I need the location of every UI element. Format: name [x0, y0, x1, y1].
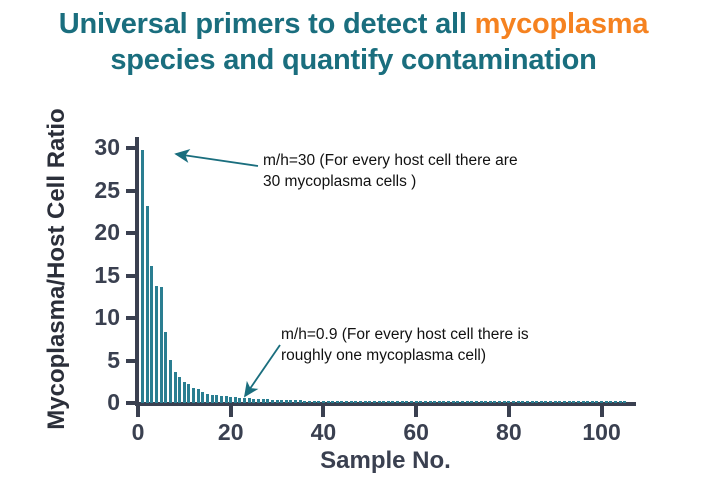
- bar: [591, 401, 594, 403]
- x-axis-tick-label: 80: [469, 419, 549, 445]
- bar: [521, 401, 524, 403]
- bar: [373, 401, 376, 403]
- x-axis-tick: [321, 406, 325, 417]
- bar: [614, 401, 617, 403]
- x-axis-tick-label: 100: [562, 419, 642, 445]
- bar: [489, 401, 492, 403]
- bar: [266, 399, 269, 403]
- bar: [299, 400, 302, 403]
- bar: [600, 401, 603, 403]
- bar: [322, 401, 325, 403]
- bar: [285, 400, 288, 403]
- page-title: Universal primers to detect all mycoplas…: [0, 6, 707, 78]
- bar: [313, 401, 316, 403]
- bar: [192, 388, 195, 403]
- y-axis-tick: [126, 274, 136, 278]
- bar: [563, 401, 566, 403]
- x-axis-tick: [414, 406, 418, 417]
- page-title-line1-prefix: Universal primers to detect all: [59, 8, 475, 40]
- y-axis-tick-label: 15: [76, 264, 120, 287]
- bar: [276, 400, 279, 403]
- bar: [238, 398, 241, 404]
- bar-chart-figure: 051015202530 020406080100 Mycoplasma/Hos…: [0, 92, 707, 484]
- bar: [517, 401, 520, 403]
- bar: [442, 401, 445, 403]
- bar: [503, 401, 506, 403]
- bar: [391, 401, 394, 403]
- bar: [609, 401, 612, 403]
- bar: [141, 150, 144, 403]
- bar: [317, 401, 320, 403]
- bar: [619, 401, 622, 403]
- bar: [507, 401, 510, 403]
- bar: [206, 394, 209, 403]
- bar: [234, 397, 237, 403]
- bar: [303, 401, 306, 403]
- bar: [558, 401, 561, 403]
- bar: [498, 401, 501, 403]
- bar: [354, 401, 357, 403]
- bar: [378, 401, 381, 403]
- bar: [248, 398, 251, 403]
- bar: [187, 384, 190, 403]
- bar: [586, 401, 589, 403]
- bar: [484, 401, 487, 403]
- bar: [466, 401, 469, 403]
- bar: [178, 377, 181, 403]
- bar: [582, 401, 585, 403]
- bar: [201, 392, 204, 403]
- bar: [331, 401, 334, 403]
- bar: [215, 395, 218, 403]
- bar: [480, 401, 483, 403]
- bar: [568, 401, 571, 403]
- bar: [595, 401, 598, 403]
- bar: [327, 401, 330, 403]
- bar: [577, 401, 580, 403]
- bar: [382, 401, 385, 403]
- bar: [155, 286, 158, 403]
- bar: [531, 401, 534, 403]
- bar: [429, 401, 432, 403]
- bar: [359, 401, 362, 403]
- bar: [169, 360, 172, 403]
- bar: [387, 401, 390, 403]
- y-axis-tick-label: 10: [76, 306, 120, 329]
- y-axis-tick: [126, 231, 136, 235]
- bar: [424, 401, 427, 403]
- bar: [554, 401, 557, 403]
- bar: [336, 401, 339, 403]
- x-axis-tick: [136, 406, 140, 417]
- bar: [605, 401, 608, 403]
- bar: [410, 401, 413, 403]
- bar: [350, 401, 353, 403]
- bar: [535, 401, 538, 403]
- bar: [164, 332, 167, 403]
- bar: [160, 287, 163, 403]
- x-axis-tick-label: 0: [98, 419, 178, 445]
- bar: [544, 401, 547, 403]
- y-axis-title: Mycoplasma/Host Cell Ratio: [43, 104, 71, 434]
- bar: [470, 401, 473, 403]
- bar: [220, 396, 223, 403]
- bar: [419, 401, 422, 403]
- bar: [526, 401, 529, 403]
- bar: [405, 401, 408, 403]
- bar: [401, 401, 404, 403]
- bar: [452, 401, 455, 403]
- bar: [294, 400, 297, 403]
- y-axis-tick: [126, 401, 136, 405]
- annotation-high-ratio: m/h=30 (For every host cell there are 30…: [263, 150, 633, 192]
- y-axis-tick-label: 30: [76, 136, 120, 159]
- y-axis-tick: [126, 189, 136, 193]
- bar: [257, 399, 260, 403]
- bar: [433, 401, 436, 403]
- bar: [174, 372, 177, 403]
- bar: [262, 399, 265, 403]
- y-axis-tick-label: 0: [76, 391, 120, 414]
- bar: [368, 401, 371, 403]
- bar: [340, 401, 343, 403]
- bar: [512, 401, 515, 403]
- bar: [345, 401, 348, 403]
- bar: [146, 206, 149, 403]
- bar: [243, 398, 246, 403]
- bar: [225, 396, 228, 403]
- annotation-low-ratio: m/h=0.9 (For every host cell there is ro…: [281, 324, 651, 366]
- x-axis-tick-label: 40: [283, 419, 363, 445]
- x-axis-title: Sample No.: [135, 447, 636, 475]
- bar: [475, 401, 478, 403]
- y-axis-tick-label: 5: [76, 349, 120, 372]
- bar: [271, 400, 274, 403]
- bar: [229, 397, 232, 403]
- bar: [211, 395, 214, 403]
- bar: [280, 400, 283, 403]
- y-axis-tick: [126, 316, 136, 320]
- y-axis-tick: [126, 146, 136, 150]
- bar: [623, 401, 626, 403]
- bar: [364, 401, 367, 403]
- bar: [572, 401, 575, 403]
- bar: [438, 401, 441, 403]
- x-axis-tick: [229, 406, 233, 417]
- bar: [396, 401, 399, 403]
- bar: [183, 382, 186, 403]
- bar: [308, 401, 311, 403]
- x-axis-tick: [507, 406, 511, 417]
- x-axis-tick-label: 20: [191, 419, 271, 445]
- x-axis-tick-label: 60: [376, 419, 456, 445]
- page-title-highlight: mycoplasma: [475, 8, 649, 40]
- bar: [252, 399, 255, 403]
- bar: [549, 401, 552, 403]
- y-axis-tick-label: 20: [76, 221, 120, 244]
- bar: [461, 401, 464, 403]
- bar: [150, 266, 153, 403]
- bar: [540, 401, 543, 403]
- x-axis-tick: [600, 406, 604, 417]
- bar: [415, 401, 418, 403]
- bar: [289, 400, 292, 403]
- bar: [493, 401, 496, 403]
- y-axis-tick-label: 25: [76, 179, 120, 202]
- bar: [197, 389, 200, 403]
- page-title-line2: species and quantify contamination: [110, 44, 596, 76]
- bar: [456, 401, 459, 403]
- bar: [447, 401, 450, 403]
- y-axis-tick: [126, 359, 136, 363]
